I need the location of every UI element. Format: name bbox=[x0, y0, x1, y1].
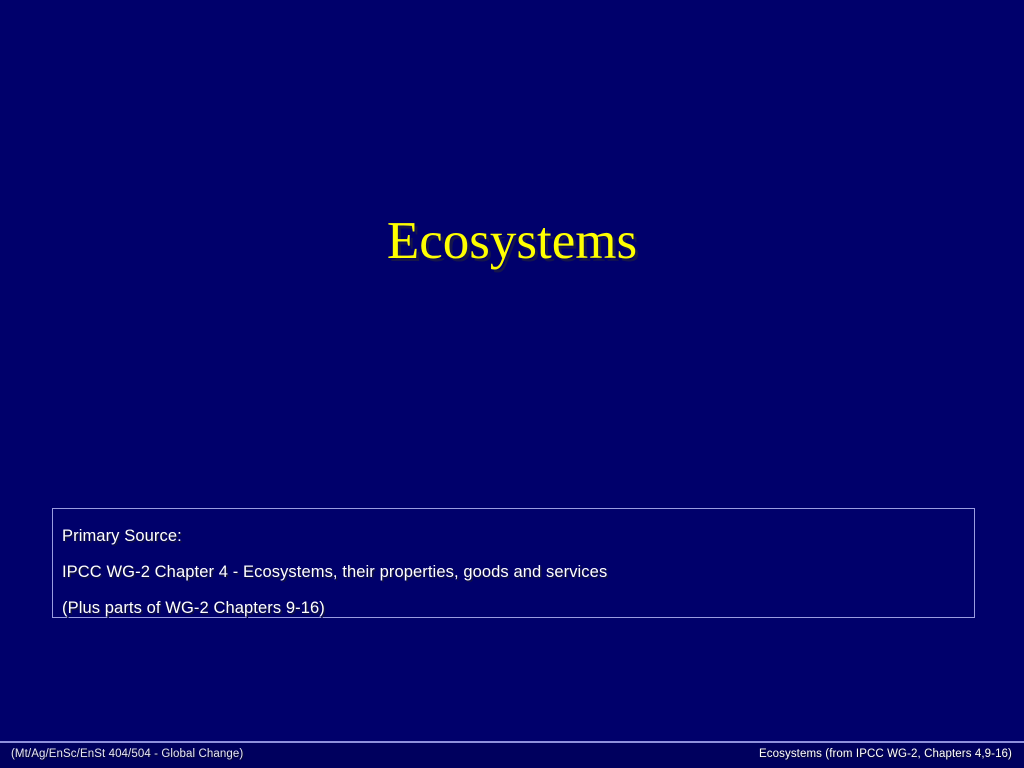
primary-source-box: Primary Source: IPCC WG-2 Chapter 4 - Ec… bbox=[52, 508, 975, 618]
title-block: Ecosystems bbox=[0, 214, 1024, 270]
source-line-heading: Primary Source: bbox=[62, 518, 974, 554]
footer-course-label: (Mt/Ag/EnSc/EnSt 404/504 - Global Change… bbox=[11, 748, 243, 760]
source-line-chapter: IPCC WG-2 Chapter 4 - Ecosystems, their … bbox=[62, 554, 974, 590]
presentation-slide: Ecosystems Primary Source: IPCC WG-2 Cha… bbox=[0, 0, 1024, 768]
source-line-additional-chapters: (Plus parts of WG-2 Chapters 9-16) bbox=[62, 590, 974, 626]
footer-topic-label: Ecosystems (from IPCC WG-2, Chapters 4,9… bbox=[759, 748, 1012, 760]
page-title: Ecosystems bbox=[387, 214, 637, 270]
